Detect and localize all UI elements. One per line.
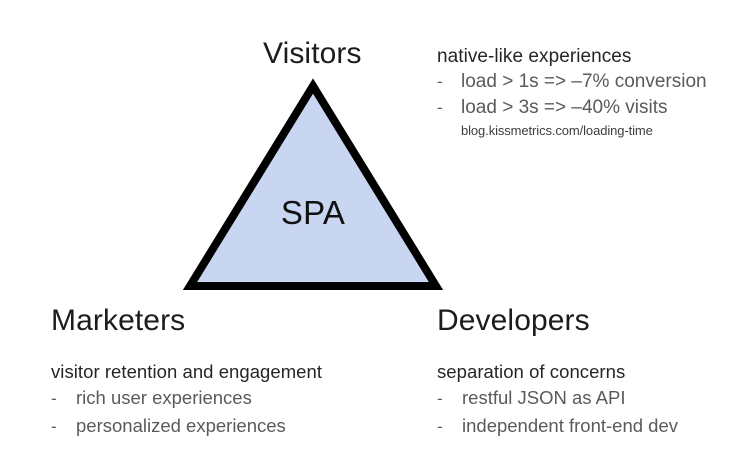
source-url-note: blog.kissmetrics.com/loading-time — [461, 122, 737, 139]
block-marketers-bullets: - rich user experiences - personalized e… — [51, 384, 396, 440]
list-item: - independent front-end dev — [437, 412, 742, 440]
list-item: - personalized experiences — [51, 412, 396, 440]
block-visitors-title: native-like experiences — [437, 45, 737, 69]
bullet-text: personalized experiences — [76, 412, 286, 439]
corner-label-marketers: Marketers — [51, 306, 185, 336]
triangle-shape — [190, 86, 436, 286]
bullet-text: rich user experiences — [76, 384, 252, 411]
triangle-label-spa: SPA — [182, 196, 444, 229]
block-marketers: visitor retention and engagement - rich … — [51, 360, 396, 440]
block-visitors: native-like experiences - load > 1s => –… — [437, 45, 737, 139]
bullet-text: restful JSON as API — [462, 384, 625, 411]
block-developers-title: separation of concerns — [437, 360, 742, 384]
list-item: - rich user experiences — [51, 384, 396, 412]
bullet-dash-icon: - — [437, 95, 461, 121]
bullet-dash-icon: - — [51, 413, 76, 440]
slide-canvas: Visitors SPA native-like experiences - l… — [0, 0, 750, 462]
bullet-dash-icon: - — [437, 413, 462, 440]
corner-label-developers: Developers — [437, 306, 590, 336]
bullet-dash-icon: - — [51, 385, 76, 412]
bullet-dash-icon: - — [437, 385, 462, 412]
list-item: - restful JSON as API — [437, 384, 742, 412]
list-item: - load > 1s => –7% conversion — [437, 69, 737, 95]
block-marketers-title: visitor retention and engagement — [51, 360, 396, 384]
block-visitors-bullets: - load > 1s => –7% conversion - load > 3… — [437, 69, 737, 121]
corner-label-visitors: Visitors — [263, 39, 362, 69]
bullet-text: independent front-end dev — [462, 412, 678, 439]
bullet-text: load > 1s => –7% conversion — [461, 69, 707, 95]
block-developers-bullets: - restful JSON as API - independent fron… — [437, 384, 742, 440]
block-developers: separation of concerns - restful JSON as… — [437, 360, 742, 440]
bullet-dash-icon: - — [437, 69, 461, 95]
list-item: - load > 3s => –40% visits — [437, 95, 737, 121]
bullet-text: load > 3s => –40% visits — [461, 95, 668, 121]
spa-triangle — [182, 78, 444, 294]
